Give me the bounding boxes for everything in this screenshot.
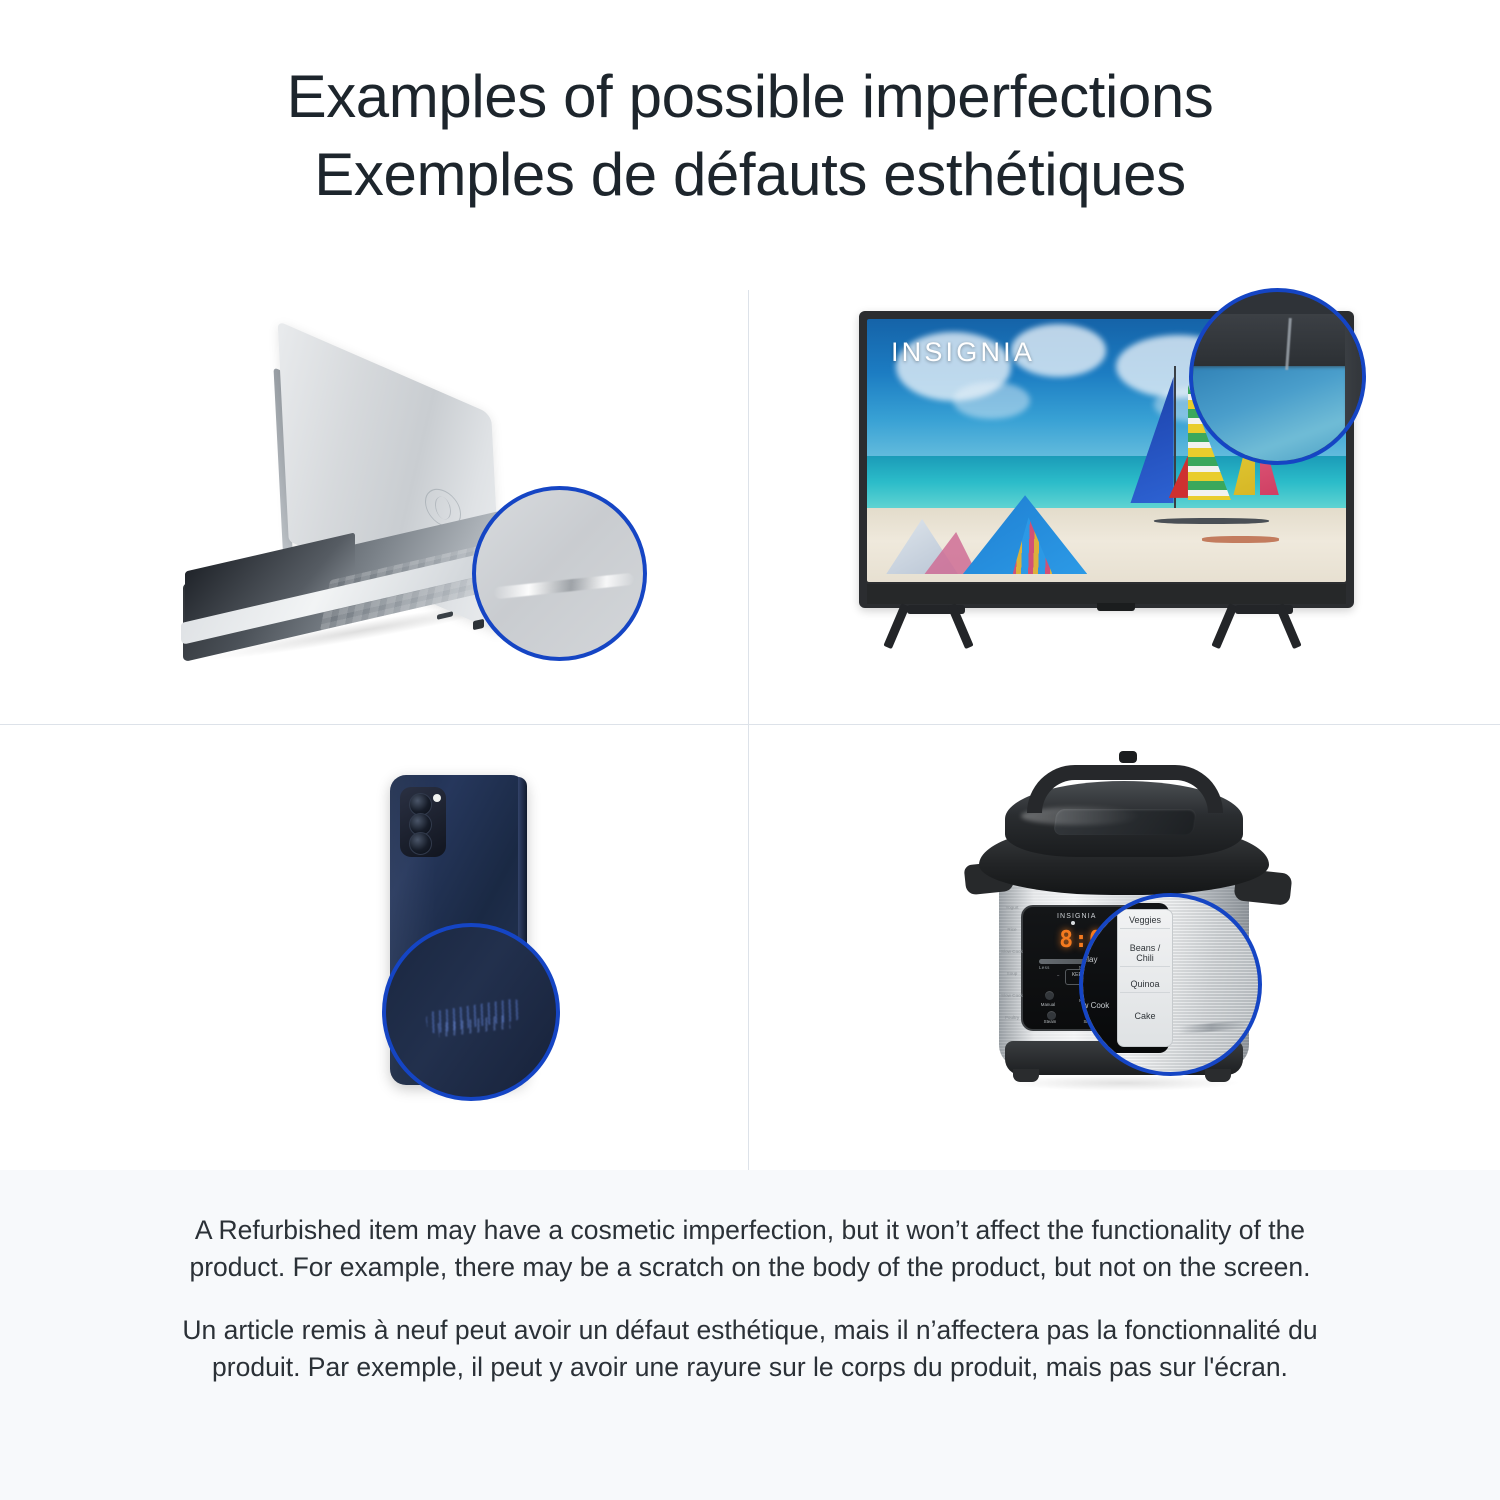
smartphone-magnifier (382, 923, 560, 1101)
pressure-cooker-illustration: INSIGNIA 8:00 Less Normal More KEEP WARM… (959, 745, 1319, 1115)
example-smartphone (0, 725, 748, 1170)
page-title: Examples of possible imperfections Exemp… (0, 58, 1500, 214)
examples-grid: INSIGNIA (0, 265, 1500, 1170)
example-laptop (0, 265, 748, 724)
cooker-left-label-3: Soup (1001, 971, 1023, 976)
laptop-scratch-mark (494, 573, 634, 600)
camera-flash-icon (433, 794, 441, 802)
cooker-left-label-1: Rice (1001, 927, 1023, 932)
television-illustration: INSIGNIA (859, 293, 1379, 663)
refurbished-imperfections-infographic: Examples of possible imperfections Exemp… (0, 0, 1500, 1500)
television-ir-sensor-icon (1097, 603, 1135, 611)
page-title-french: Exemples de défauts esthétiques (0, 136, 1500, 214)
cooker-left-label-0: Yogurt (1001, 905, 1023, 910)
footer-panel: A Refurbished item may have a cosmetic i… (0, 1170, 1500, 1500)
page-title-english: Examples of possible imperfections (0, 58, 1500, 136)
cooker-label-steam: Steam (1037, 1019, 1063, 1024)
pressure-cooker-magnifier: Delay Slow Cook Veggies Beans / Chili Qu… (1079, 893, 1262, 1076)
pressure-cooker-foot (1013, 1069, 1039, 1082)
smartphone-camera-module (400, 787, 446, 857)
cooker-left-label-column: Yogurt Rice Slow Cook Soup Slow Cook Pou… (1001, 901, 1023, 1029)
pressure-cooker-lid-handle (1027, 765, 1223, 813)
television-brand-logo: INSIGNIA (891, 337, 1035, 368)
television-magnifier (1189, 288, 1366, 465)
magnified-button-cake[interactable]: Cake (1120, 1008, 1170, 1024)
magnified-button-veggies[interactable]: Veggies (1120, 912, 1170, 929)
example-television: INSIGNIA (749, 265, 1500, 724)
laptop-magnifier (472, 486, 647, 661)
footer-paragraph-english: A Refurbished item may have a cosmetic i… (180, 1212, 1320, 1286)
smartphone-illustration (330, 775, 560, 1105)
camera-lens-icon (409, 832, 432, 855)
cooker-left-label-5: Poultry (1001, 1015, 1023, 1020)
magnified-label-slow-cook: Slow Cook (1079, 1001, 1109, 1010)
television-chin (867, 584, 1346, 604)
cooker-left-label-2: Slow Cook (1001, 949, 1023, 954)
cooker-button-manual[interactable] (1045, 991, 1054, 1000)
television-leg-right (1229, 605, 1305, 649)
laptop-illustration (175, 370, 575, 640)
magnified-screen (1189, 366, 1348, 465)
magnified-bezel-top (1189, 314, 1366, 366)
cooker-label-manual: Manual (1035, 1002, 1061, 1007)
magnified-button-column: Veggies Beans / Chili Quinoa Cake (1117, 909, 1173, 1047)
footer-text-container: A Refurbished item may have a cosmetic i… (180, 1212, 1320, 1386)
cooker-left-label-4: Slow Cook (1001, 993, 1023, 998)
laptop-power-port-icon (473, 619, 484, 631)
screen-cloud (953, 382, 1030, 419)
footer-paragraph-french: Un article remis à neuf peut avoir un dé… (180, 1312, 1320, 1386)
cooker-status-led-icon (1071, 921, 1075, 925)
magnified-button-quinoa[interactable]: Quinoa (1120, 976, 1170, 993)
pressure-valve-icon (1119, 751, 1137, 763)
screen-boat-hull (1154, 518, 1269, 525)
television-leg-left (901, 605, 977, 649)
slider-label-less: Less (1039, 965, 1050, 970)
example-pressure-cooker: INSIGNIA 8:00 Less Normal More KEEP WARM… (749, 725, 1500, 1170)
cooker-minus-icon[interactable]: − (1045, 973, 1071, 978)
magnified-button-beans-chili[interactable]: Beans / Chili (1120, 940, 1170, 967)
screen-boat-hull (1202, 536, 1279, 543)
magnified-bezel-corner (1345, 314, 1366, 465)
